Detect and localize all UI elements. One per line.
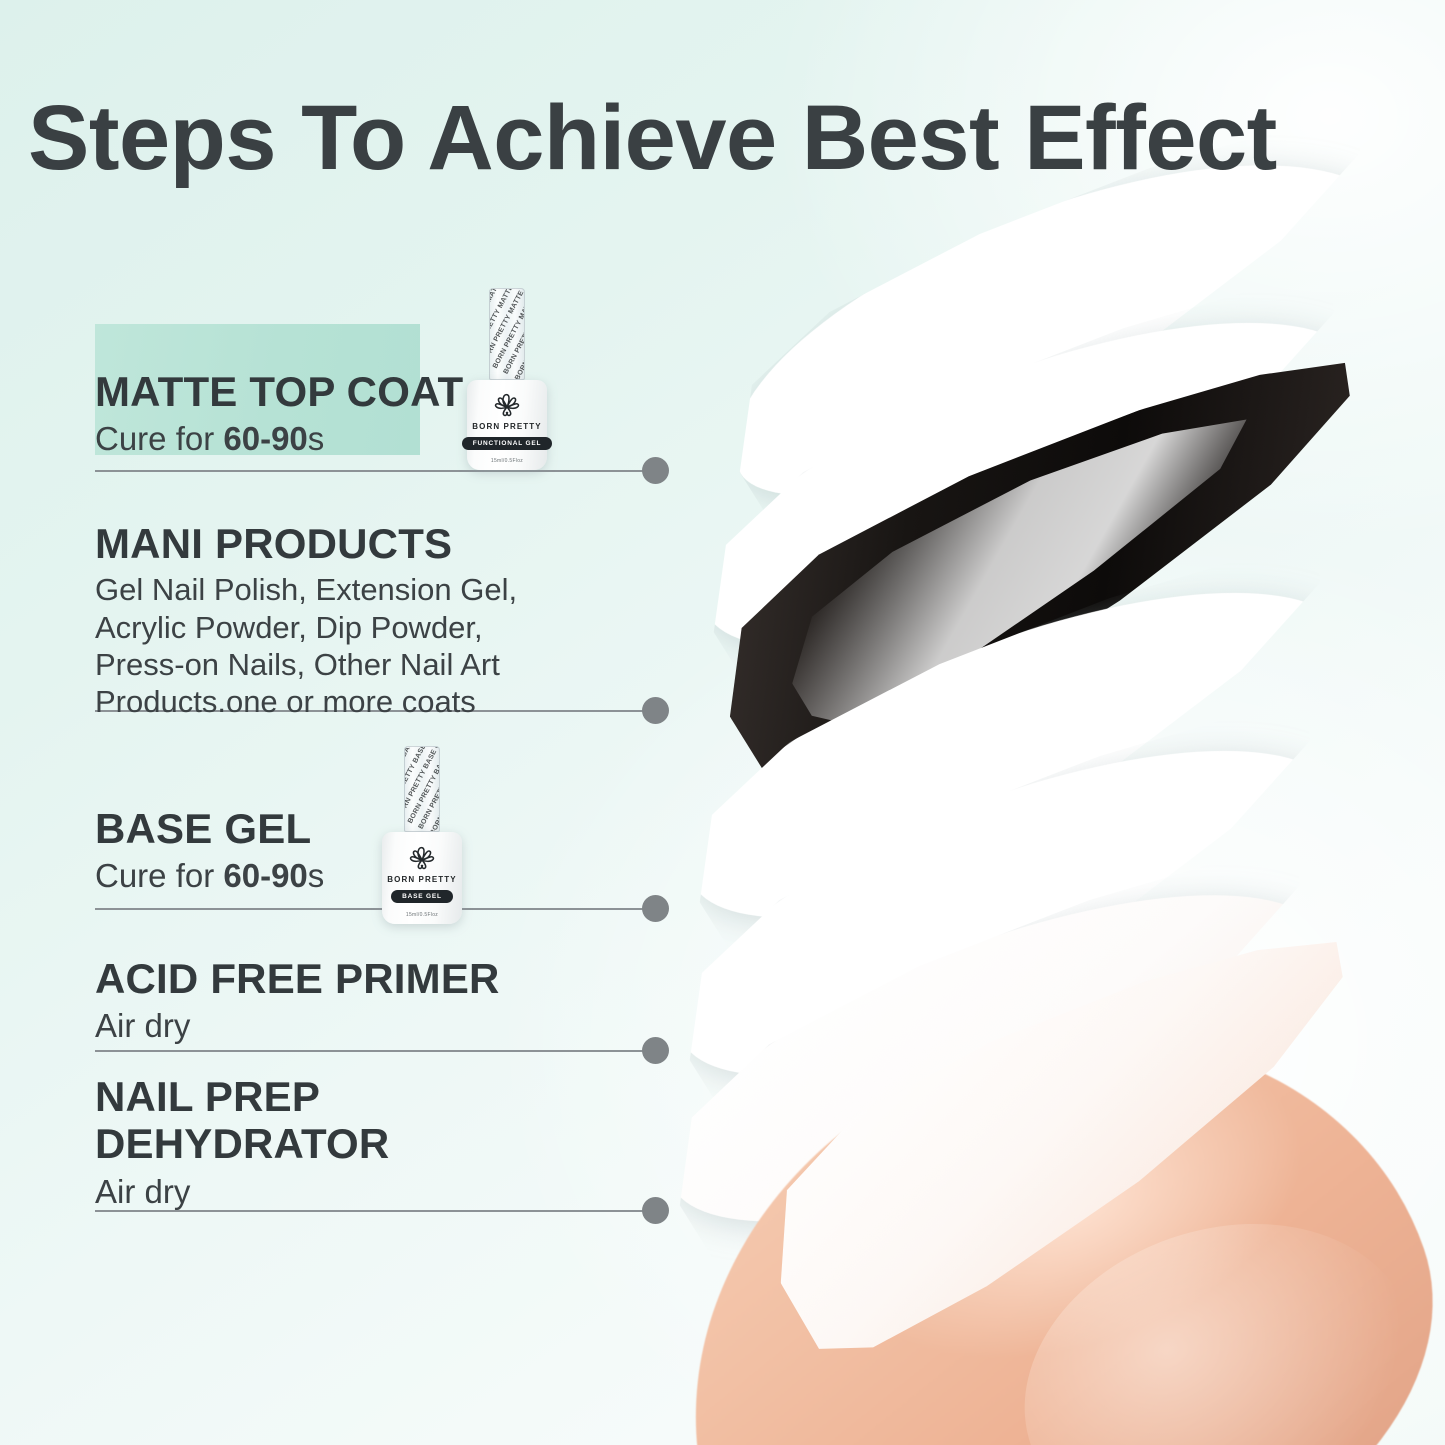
connector-line-matte-top-coat xyxy=(95,470,643,472)
connector-dot-base-gel xyxy=(642,895,669,922)
page-title: Steps To Achieve Best Effect xyxy=(28,92,1428,184)
bottle-body-base-gel: BORN PRETTY BASE GEL 15ml/0.5Floz xyxy=(382,832,462,924)
connector-dot-matte-top-coat xyxy=(642,457,669,484)
step-acid-free-primer: ACID FREE PRIMER Air dry xyxy=(95,955,500,1047)
mani-line-3: Press-on Nails, Other Nail Art xyxy=(95,646,517,683)
step-sub-nail-prep-dehydrator: Air dry xyxy=(95,1172,389,1212)
bottle-cap-base-gel: BORN PRETTY BASE GEL BORN PRETTY BASE GE… xyxy=(404,746,440,832)
cure-duration-2: 60-90 xyxy=(223,857,307,894)
step-title-mani-products: MANI PRODUCTS xyxy=(95,520,517,567)
born-pretty-flower-logo-icon xyxy=(492,393,522,417)
bottle-cap-matte-top-coat: BORN PRETTY MATTE TOP COAT BORN PRETTY M… xyxy=(489,288,525,380)
matte-top-coat-bottle: BORN PRETTY MATTE TOP COAT BORN PRETTY M… xyxy=(463,288,551,470)
connector-dot-acid-free-primer xyxy=(642,1037,669,1064)
step-title-base-gel: BASE GEL xyxy=(95,805,324,852)
born-pretty-flower-logo-icon xyxy=(407,846,437,870)
connector-dot-nail-prep-dehydrator xyxy=(642,1197,669,1224)
step-title-matte-top-coat: MATTE TOP COAT xyxy=(95,368,463,415)
step-nail-prep-dehydrator: NAIL PREP DEHYDRATOR Air dry xyxy=(95,1073,389,1212)
connector-line-base-gel xyxy=(95,908,643,910)
cure-prefix-2: Cure for xyxy=(95,857,223,894)
bottle-body-matte-top-coat: BORN PRETTY FUNCTIONAL GEL 15ml/0.5Floz xyxy=(467,380,547,470)
bottle-volume-base-gel: 15ml/0.5Floz xyxy=(406,912,438,918)
bottle-cap-text-base-gel: BORN PRETTY BASE GEL BORN PRETTY BASE GE… xyxy=(404,746,440,832)
mani-line-4: Products.one or more coats xyxy=(95,683,517,720)
cure-duration-1: 60-90 xyxy=(223,420,307,457)
nail-layer-stack-artwork xyxy=(640,170,1445,1445)
bottle-product-label-matte-top-coat: FUNCTIONAL GEL xyxy=(462,437,553,450)
step-sub-matte-top-coat: Cure for 60-90s xyxy=(95,419,463,459)
step-title-acid-free-primer: ACID FREE PRIMER xyxy=(95,955,500,1002)
connector-line-acid-free-primer xyxy=(95,1050,643,1052)
base-gel-bottle: BORN PRETTY BASE GEL BORN PRETTY BASE GE… xyxy=(378,746,466,924)
step-title-nail-prep-dehydrator-line1: NAIL PREP xyxy=(95,1073,389,1120)
cure-suffix-1: s xyxy=(308,420,325,457)
mani-line-2: Acrylic Powder, Dip Powder, xyxy=(95,609,517,646)
cure-prefix-1: Cure for xyxy=(95,420,223,457)
step-sub-acid-free-primer: Air dry xyxy=(95,1006,500,1046)
bottle-volume-matte-top-coat: 15ml/0.5Floz xyxy=(491,458,523,464)
step-mani-products: MANI PRODUCTS Gel Nail Polish, Extension… xyxy=(95,520,517,720)
step-base-gel: BASE GEL Cure for 60-90s xyxy=(95,805,324,897)
bottle-cap-text-matte-top-coat: BORN PRETTY MATTE TOP COAT BORN PRETTY M… xyxy=(489,288,525,380)
step-sub-base-gel: Cure for 60-90s xyxy=(95,856,324,896)
step-matte-top-coat: MATTE TOP COAT Cure for 60-90s xyxy=(95,368,463,460)
cure-suffix-2: s xyxy=(308,857,325,894)
bottle-product-label-base-gel: BASE GEL xyxy=(391,890,453,903)
infographic-canvas: Steps To Achieve Best Effect MATTE TOP C… xyxy=(0,0,1445,1445)
bottle-brand-matte-top-coat: BORN PRETTY xyxy=(472,422,541,431)
mani-line-1: Gel Nail Polish, Extension Gel, xyxy=(95,571,517,608)
step-title-nail-prep-dehydrator-line2: DEHYDRATOR xyxy=(95,1120,389,1167)
bottle-brand-base-gel: BORN PRETTY xyxy=(387,875,456,884)
step-sub-mani-products: Gel Nail Polish, Extension Gel, Acrylic … xyxy=(95,571,517,720)
connector-dot-mani-products xyxy=(642,697,669,724)
